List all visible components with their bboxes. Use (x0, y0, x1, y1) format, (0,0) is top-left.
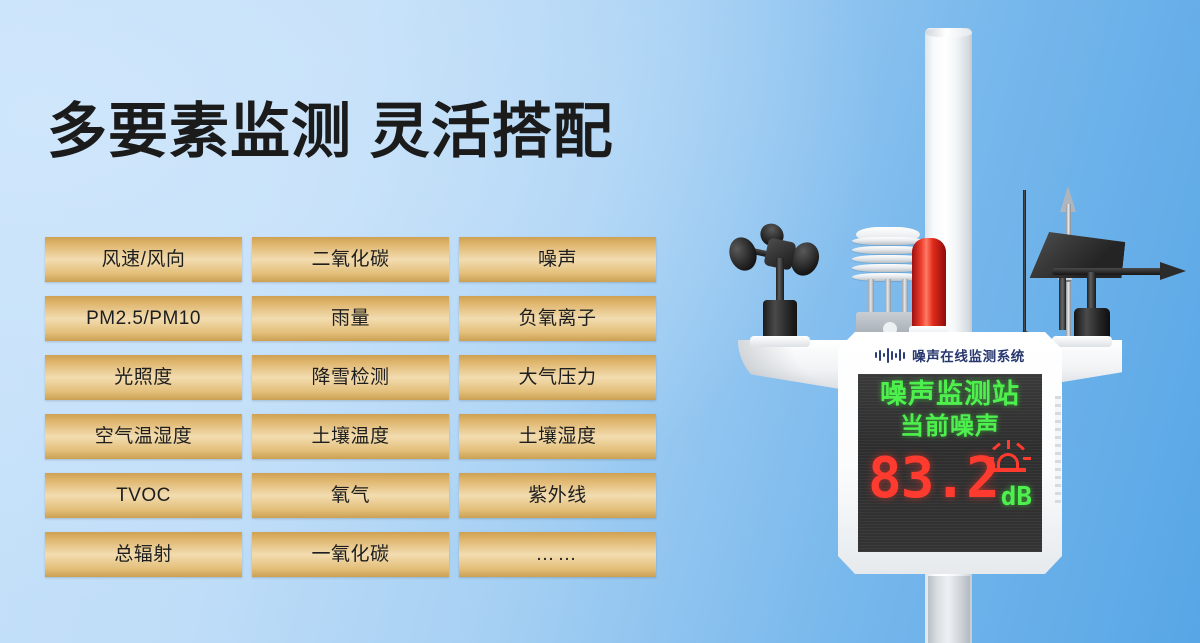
led-reading-row: 83.2 dB (858, 442, 1042, 516)
display-module: 噪声在线监测系统 噪声监测站 当前噪声 83.2 dB (838, 332, 1062, 574)
tag-item[interactable]: 降雪检测 (252, 355, 449, 400)
tag-item[interactable]: PM2.5/PM10 (45, 296, 242, 341)
arm-cap-left (750, 336, 810, 347)
led-matrix-display: 噪声监测站 当前噪声 83.2 dB (858, 374, 1042, 552)
tag-item[interactable]: 光照度 (45, 355, 242, 400)
red-beacon-alarm-light (912, 238, 946, 330)
tag-item[interactable]: 土壤温度 (252, 414, 449, 459)
promo-banner: 多要素监测 灵活搭配 风速/风向 二氧化碳 噪声 PM2.5/PM10 雨量 负… (0, 0, 1200, 643)
wind-vane-arm (1052, 268, 1170, 275)
led-station-name: 噪声监测站 (880, 380, 1020, 410)
tag-item[interactable]: 紫外线 (459, 473, 656, 518)
tag-item[interactable]: 总辐射 (45, 532, 242, 577)
tag-item[interactable]: 二氧化碳 (252, 237, 449, 282)
tag-item[interactable]: 土壤湿度 (459, 414, 656, 459)
wind-vane-nose-icon (1160, 262, 1186, 280)
led-noise-unit: dB (1001, 482, 1032, 512)
tag-item-ellipsis[interactable]: …… (459, 532, 656, 577)
tag-item[interactable]: 噪声 (459, 237, 656, 282)
tag-item[interactable]: 大气压力 (459, 355, 656, 400)
tag-item[interactable]: 氧气 (252, 473, 449, 518)
module-title: 噪声在线监测系统 (912, 345, 1025, 365)
tag-item[interactable]: 雨量 (252, 296, 449, 341)
tag-item[interactable]: 负氧离子 (459, 296, 656, 341)
module-vent (1055, 396, 1061, 506)
tag-item[interactable]: 风速/风向 (45, 237, 242, 282)
monitoring-station-device: 噪声在线监测系统 噪声监测站 当前噪声 83.2 dB (660, 0, 1200, 643)
anemometer-stem (776, 258, 784, 306)
arm-cap-right (1052, 336, 1112, 347)
anemometer-cup-icon (725, 234, 761, 275)
support-pole-lower (928, 576, 970, 643)
module-header: 噪声在线监测系统 (838, 342, 1062, 368)
tag-item[interactable]: 一氧化碳 (252, 532, 449, 577)
led-noise-value: 83.2 (868, 446, 999, 511)
page-title: 多要素监测 灵活搭配 (47, 98, 614, 165)
led-metric-label: 当前噪声 (900, 413, 1000, 440)
tag-item[interactable]: 空气温湿度 (45, 414, 242, 459)
tag-item[interactable]: TVOC (45, 473, 242, 518)
sound-wave-icon (875, 347, 905, 363)
antenna (1023, 190, 1026, 342)
parameter-tag-grid: 风速/风向 二氧化碳 噪声 PM2.5/PM10 雨量 负氧离子 光照度 降雪检… (45, 237, 656, 577)
